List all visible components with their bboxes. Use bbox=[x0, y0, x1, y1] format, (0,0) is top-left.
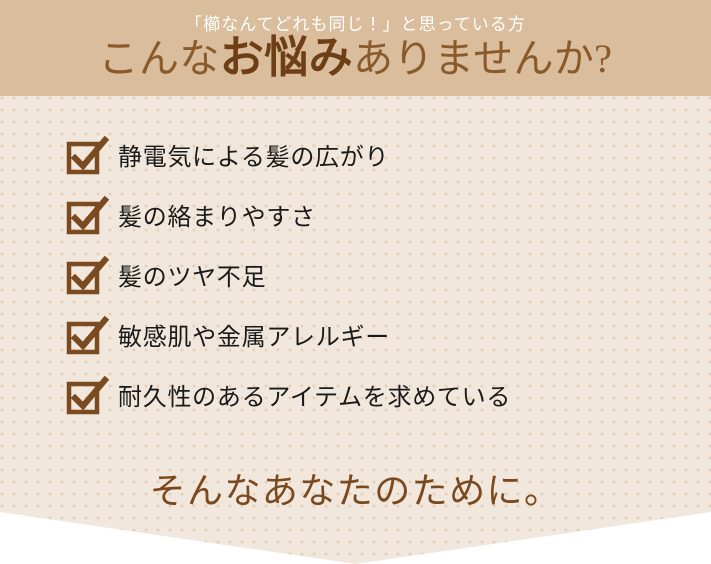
list-item-label: 敏感肌や金属アレルギー bbox=[118, 326, 390, 350]
checkbox-checked-icon bbox=[68, 323, 98, 353]
checkbox-checked-icon bbox=[68, 263, 98, 293]
checkbox-checked-icon bbox=[68, 143, 98, 173]
list-item-label: 髪の絡まりやすさ bbox=[118, 206, 316, 230]
header-subtitle: 「櫛なんてどれも同じ！」と思っている方 bbox=[0, 10, 711, 35]
header-title-emphasis: お悩み bbox=[220, 33, 353, 82]
header-title-tail: ありませんか? bbox=[353, 36, 612, 81]
concerns-checklist: 静電気による髪の広がり 髪の絡まりやすさ 髪のツヤ不足 bbox=[0, 128, 711, 428]
list-item: 髪のツヤ不足 bbox=[0, 248, 711, 308]
list-item: 髪の絡まりやすさ bbox=[0, 188, 711, 248]
list-item-label: 静電気による髪の広がり bbox=[118, 146, 389, 170]
list-item-label: 髪のツヤ不足 bbox=[118, 266, 266, 290]
list-item-label: 耐久性のあるアイテムを求めている bbox=[118, 386, 511, 410]
closing-statement: そんなあなたのために。 bbox=[0, 470, 711, 513]
header-title-lead: こんな bbox=[99, 36, 220, 81]
list-item: 静電気による髪の広がり bbox=[0, 128, 711, 188]
list-item: 耐久性のあるアイテムを求めている bbox=[0, 368, 711, 428]
promo-banner: 「櫛なんてどれも同じ！」と思っている方 こんなお悩みありませんか? 静電気による… bbox=[0, 0, 711, 564]
banner-header: 「櫛なんてどれも同じ！」と思っている方 こんなお悩みありませんか? bbox=[0, 0, 711, 96]
list-item: 敏感肌や金属アレルギー bbox=[0, 308, 711, 368]
checkbox-checked-icon bbox=[68, 383, 98, 413]
checkbox-checked-icon bbox=[68, 203, 98, 233]
header-title: こんなお悩みありませんか? bbox=[0, 36, 711, 80]
